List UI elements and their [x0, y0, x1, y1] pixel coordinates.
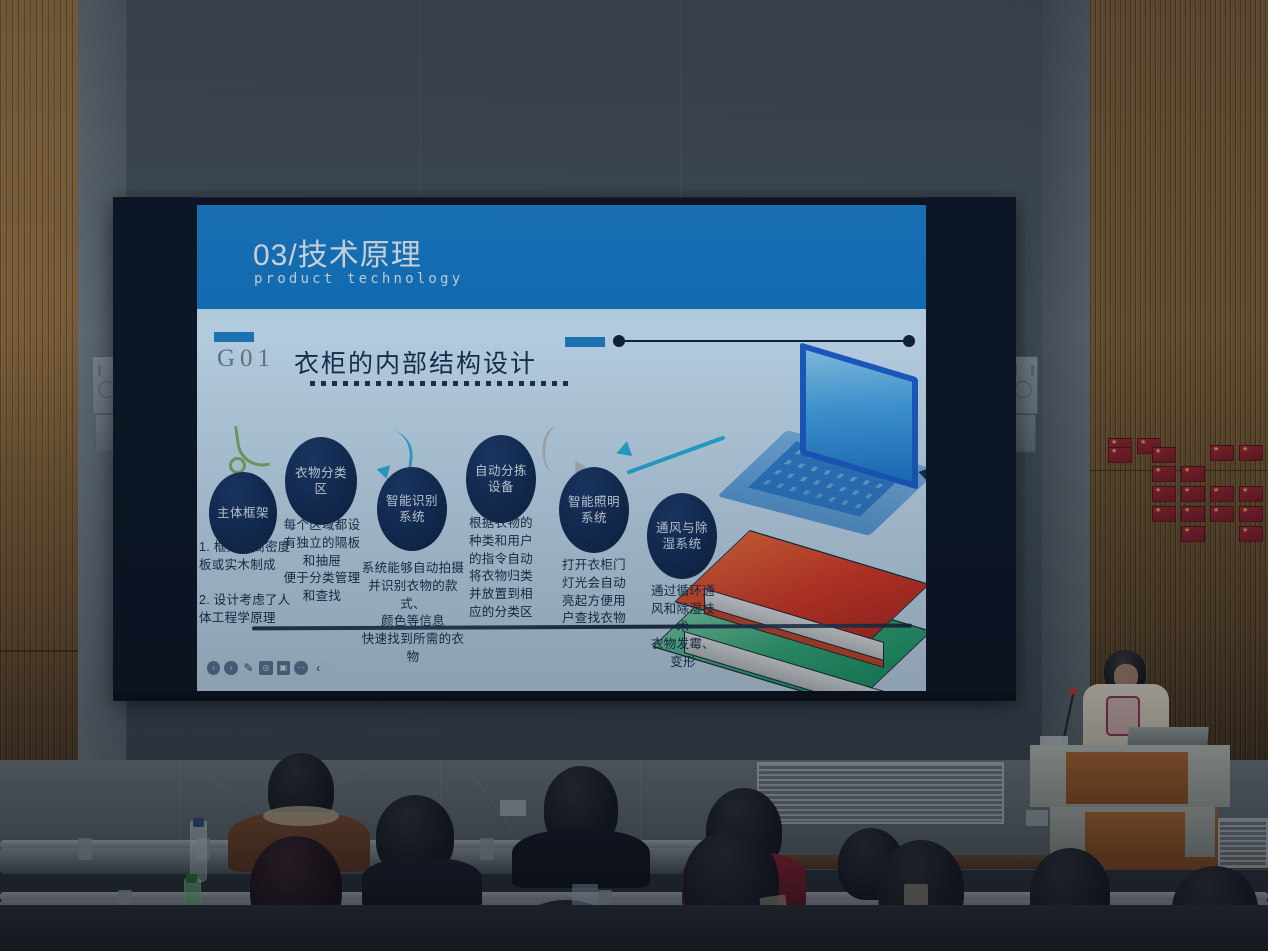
screen-letterbox-left [113, 197, 197, 699]
flag-icon [1152, 466, 1176, 482]
flag-icon [1210, 506, 1234, 522]
laptop-illustration [752, 360, 926, 510]
seat-bracket [78, 838, 92, 860]
laser-pointer-icon[interactable]: ◎ [259, 661, 272, 675]
wood-panel-seam [0, 650, 78, 652]
wall-column-right [1042, 0, 1090, 780]
speaker-cone [1015, 381, 1032, 398]
speaker-slit [1031, 365, 1034, 376]
flag-icon [1181, 526, 1205, 542]
node-clothing-zone: 衣物分类区 [285, 437, 357, 525]
decor-cyan-arrowhead-2 [614, 441, 633, 461]
node-label: 衣物分类区 [291, 465, 351, 497]
decor-rule-dot-left [613, 335, 625, 347]
collapse-toolbar-icon[interactable]: ‹ [312, 661, 325, 675]
flag-wall-display [1108, 438, 1268, 563]
next-slide-icon[interactable]: › [224, 661, 237, 675]
node-label: 通风与除湿系统 [653, 520, 711, 552]
flag-icon [1181, 466, 1205, 482]
microphone-indicator-light [1070, 688, 1076, 694]
foreground-shadow [0, 905, 1268, 951]
flag-icon [1152, 486, 1176, 502]
wall-outlet-plate [1026, 810, 1048, 826]
decor-grey-squiggle [538, 425, 574, 475]
decor-rule-dot-right [903, 335, 915, 347]
audience-member-body [362, 858, 482, 908]
node-desc-ventilation-dehumidify: 通过循环通 风和除湿技 术 衣物发霉、 变形 [643, 583, 723, 672]
node-label: 智能识别系统 [383, 493, 441, 525]
section-dotted-underline [310, 381, 574, 386]
node-desc-smart-recognition: 系统能够自动拍摄 并识别衣物的款式、 颜色等信息 快速找到所需的衣 物 [356, 560, 470, 667]
node-label: 主体框架 [217, 505, 269, 521]
seat-bracket [480, 838, 494, 860]
more-options-icon[interactable]: ⋯ [294, 661, 307, 675]
flag-icon [1210, 486, 1234, 502]
pen-icon[interactable]: ✎ [242, 661, 255, 675]
flag-icon [1108, 447, 1132, 463]
flag-icon [1239, 445, 1263, 461]
node-auto-sorting: 自动分拣设备 [466, 435, 536, 523]
flag-icon [1152, 506, 1176, 522]
podium-front-panel [1066, 752, 1188, 804]
wall-switch-plate [500, 800, 526, 816]
node-ventilation-dehumidify: 通风与除湿系统 [647, 493, 717, 579]
node-label: 自动分拣设备 [472, 463, 530, 495]
audience-collar [263, 806, 339, 826]
node-label: 智能照明系统 [565, 494, 623, 526]
flag-icon [1152, 447, 1176, 463]
hvac-vent [757, 762, 1004, 824]
bottle-cap [186, 874, 197, 883]
flag-icon [1210, 445, 1234, 461]
screen-letterbox-right [926, 197, 1016, 699]
speaker-slit [98, 365, 101, 376]
previous-slide-icon[interactable]: ‹ [207, 661, 220, 675]
lecture-hall-scene: 03/技术原理 product technology G01 衣柜的内部结构设计 [0, 0, 1268, 951]
bottle-cap [193, 818, 204, 827]
node-smart-recognition: 智能识别系统 [377, 467, 447, 551]
wood-panel-left [0, 0, 78, 800]
audience-member-body [512, 830, 650, 888]
video-icon[interactable]: ▣ [277, 661, 290, 675]
hvac-vent [1218, 818, 1268, 868]
decor-tab-right [565, 337, 605, 347]
slide-title: 03/技术原理 [253, 230, 422, 274]
screen-letterbox-bottom [113, 691, 1016, 701]
podium-column-panel [1085, 812, 1185, 858]
node-desc-auto-sorting: 根据衣物的 种类和用户 的指令自动 将衣物归类 并放置到相 应的分类区 [463, 515, 539, 622]
section-code: G01 [217, 345, 275, 373]
flag-icon [1181, 506, 1205, 522]
flag-icon [1239, 506, 1263, 522]
water-bottle [190, 820, 207, 882]
flag-icon [1239, 486, 1263, 502]
podium-laptop [1127, 727, 1208, 747]
node-smart-lighting: 智能照明系统 [559, 467, 629, 553]
wall-seam [680, 0, 681, 200]
decor-cyan-arrow-2 [626, 435, 725, 474]
decor-rule-line [619, 340, 909, 342]
presentation-slide: 03/技术原理 product technology G01 衣柜的内部结构设计 [197, 205, 926, 691]
node-desc-clothing-zone: 每个区域都设 有独立的隔板 和抽屉 便于分类管理 和查找 [277, 517, 367, 606]
presentation-toolbar[interactable]: ‹ › ✎ ◎ ▣ ⋯ ‹ [201, 657, 331, 678]
node-desc-smart-lighting: 打开衣柜门 灯光会自动 亮起方便用 户查找衣物 [555, 557, 633, 628]
wall-seam [420, 0, 421, 200]
flag-icon [1239, 526, 1263, 542]
books-illustration [692, 557, 926, 687]
slide-subtitle: product technology [254, 271, 463, 287]
section-name: 衣柜的内部结构设计 [294, 344, 537, 380]
decor-tab-left [214, 332, 254, 342]
flag-icon [1181, 486, 1205, 502]
